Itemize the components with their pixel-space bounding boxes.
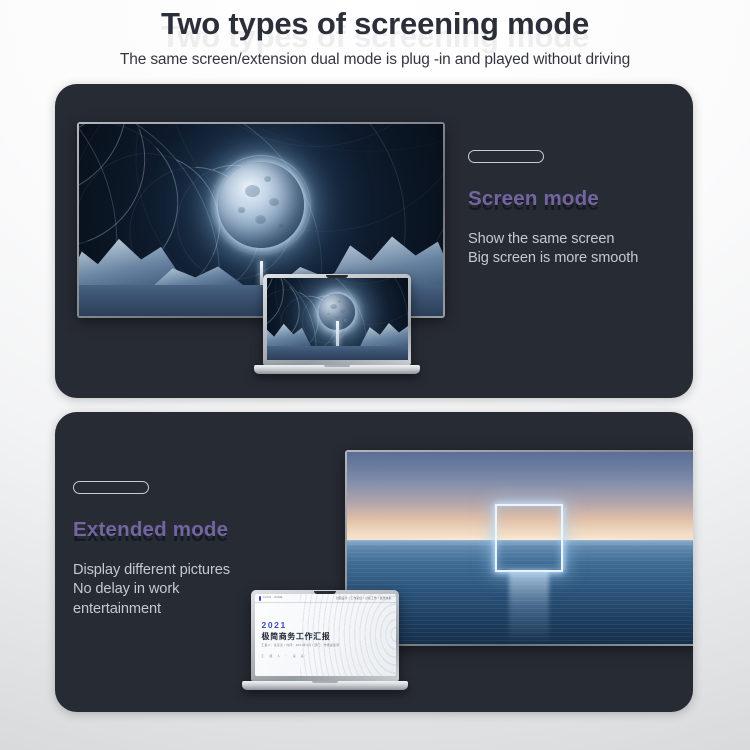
moon-icon xyxy=(218,162,304,248)
slide-logo-icon xyxy=(259,596,262,601)
slide-headline: 极简商务工作汇报 xyxy=(262,631,331,642)
laptop-base-2 xyxy=(242,681,408,690)
slide-nav-text: 封面设计 / 工作总结 / 过往工作 / 展望未来 xyxy=(336,596,392,600)
moon-crater xyxy=(245,185,260,197)
screen-mode-description: Show the same screen Big screen is more … xyxy=(468,230,683,269)
screen-mode-heading: Screen mode xyxy=(468,187,683,211)
moon-crater xyxy=(238,207,244,212)
slide-logo-text: LOGO · NAME xyxy=(263,596,283,599)
moon-crater xyxy=(330,304,336,309)
laptop-display-extended-mode: LOGO · NAME 封面设计 / 工作总结 / 过往工作 / 展望未来 20… xyxy=(251,590,399,690)
page-subtitle: The same screen/extension dual mode is p… xyxy=(0,51,750,69)
extended-mode-card: Extended mode Display different pictures… xyxy=(55,412,693,712)
decorative-pill-icon-2 xyxy=(73,481,149,494)
screen-mode-card: Screen mode Show the same screen Big scr… xyxy=(55,84,693,398)
decorative-pill-icon xyxy=(468,150,544,163)
presentation-slide: LOGO · NAME 封面设计 / 工作总结 / 过往工作 / 展望未来 20… xyxy=(255,594,396,676)
tower-silhouette-mirror xyxy=(336,321,339,347)
laptop-screen-content-2: LOGO · NAME 封面设计 / 工作总结 / 过往工作 / 展望未来 20… xyxy=(255,594,396,676)
moon-crater xyxy=(277,222,284,228)
page-header: Two types of screening mode The same scr… xyxy=(0,0,750,69)
neon-square-icon xyxy=(495,504,563,572)
laptop-lid-2: LOGO · NAME 封面设计 / 工作总结 / 过往工作 / 展望未来 20… xyxy=(251,590,399,681)
moon-crater xyxy=(327,313,330,315)
slide-subline: 汇报人：某某某 / 时间：2021年1月 / 部门：市场运营部 xyxy=(262,643,340,647)
moon-crater xyxy=(334,316,339,320)
extended-mode-heading: Extended mode xyxy=(73,518,298,542)
moon-crater xyxy=(269,198,279,206)
moon-crater xyxy=(338,300,341,303)
page-title: Two types of screening mode xyxy=(161,6,589,43)
laptop-base xyxy=(254,365,420,374)
laptop-display-screen-mode xyxy=(263,274,411,374)
water-surface-mirror xyxy=(267,346,408,359)
slide-footer: 汇 报 人 ： 某 某 xyxy=(262,654,306,658)
moon-scene-artwork-mirror xyxy=(267,278,408,360)
moon-crater xyxy=(264,176,271,182)
moon-crater xyxy=(255,215,267,225)
laptop-screen-content xyxy=(267,278,408,360)
laptop-lid xyxy=(263,274,411,365)
moon-crater xyxy=(344,319,347,322)
slide-year: 2021 xyxy=(262,620,287,630)
moon-crater xyxy=(340,309,344,312)
moon-reflection xyxy=(509,571,549,644)
screen-mode-text-block: Screen mode Show the same screen Big scr… xyxy=(468,150,683,269)
